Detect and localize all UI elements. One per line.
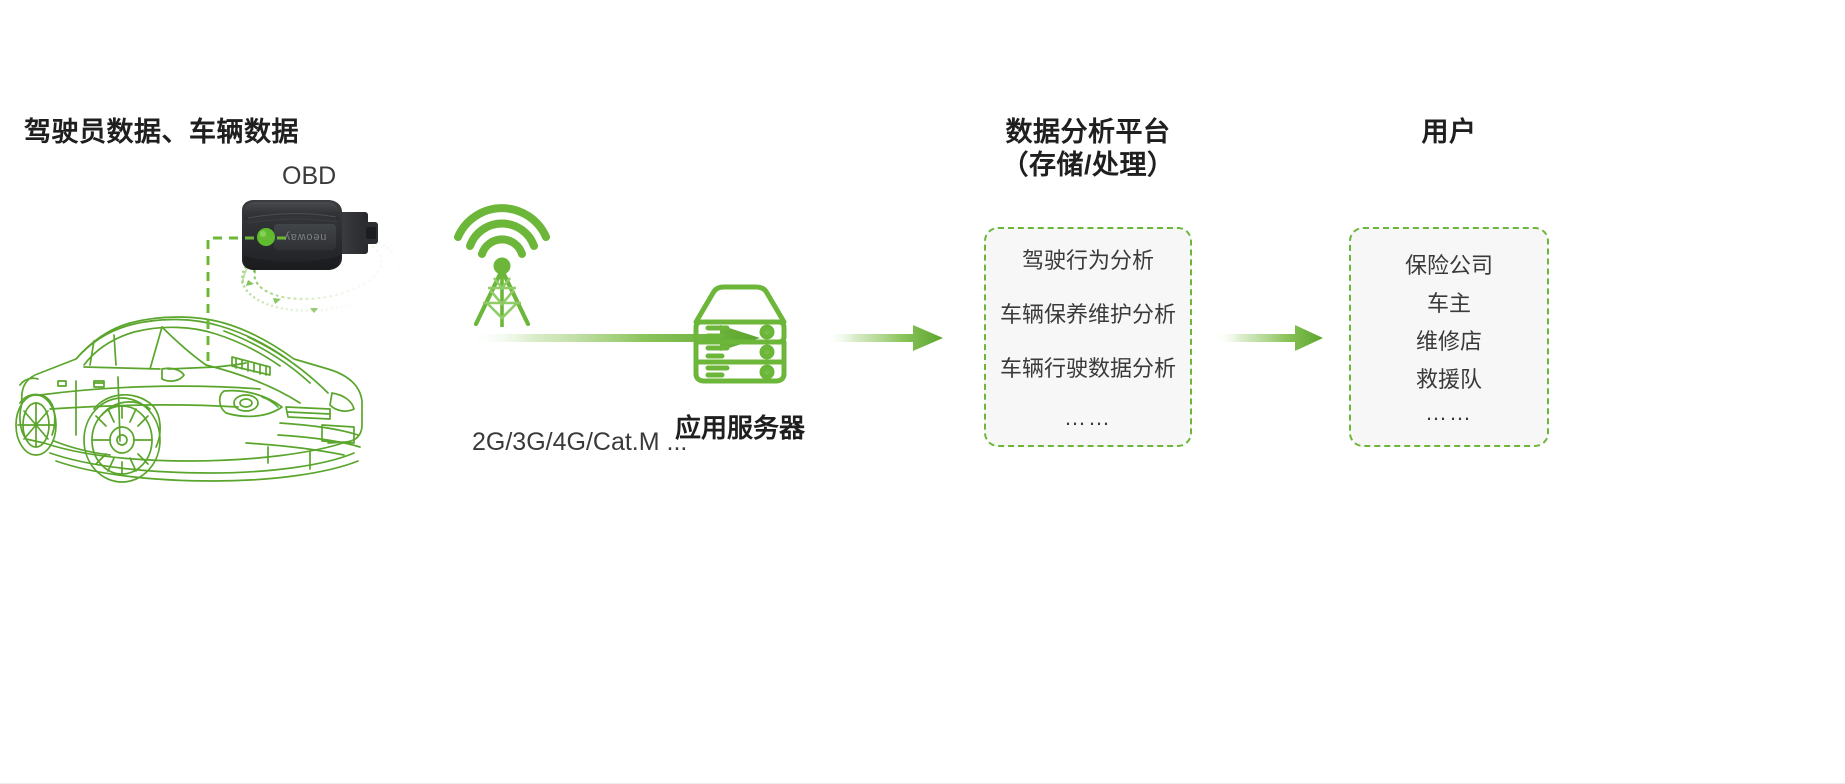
svg-text:neoway: neoway [284, 231, 327, 243]
user-item-1: 车主 [1427, 286, 1471, 318]
application-server-icon [689, 284, 791, 384]
user-item-2: 维修店 [1416, 324, 1482, 356]
server-caption: 应用服务器 [660, 408, 820, 445]
car-line-art-icon [10, 285, 370, 490]
cell-tower-icon [448, 182, 556, 327]
platform-item-0: 驾驶行为分析 [1022, 243, 1154, 275]
users-panel: 保险公司 车主 维修店 救援队 …… [1349, 227, 1549, 447]
network-link-label: 2G/3G/4G/Cat.M ... [472, 428, 687, 457]
platform-analysis-panel: 驾驶行为分析 车辆保养维护分析 车辆行驶数据分析 …… [984, 227, 1192, 447]
user-item-0: 保险公司 [1405, 248, 1493, 280]
platform-item-1: 车辆保养维护分析 [1000, 297, 1176, 329]
platform-item-3: …… [1064, 405, 1112, 431]
section-heading-platform-line1: 数据分析平台 [984, 115, 1192, 151]
gradient-arrow-right-icon-3 [1215, 325, 1323, 351]
section-heading-users: 用户 [1349, 115, 1549, 151]
diagram-canvas: 驾驶员数据、车辆数据 [0, 0, 1845, 784]
user-item-3: 救援队 [1416, 362, 1482, 394]
gradient-arrow-right-icon-2 [825, 325, 943, 351]
user-item-4: …… [1425, 400, 1473, 426]
obd-device-label: OBD [282, 162, 336, 191]
section-heading-platform-line2: （存储/处理） [984, 148, 1192, 184]
platform-item-2: 车辆行驶数据分析 [1000, 351, 1176, 383]
obd-device-icon: neoway [232, 196, 384, 278]
section-heading-vehicle-data: 驾驶员数据、车辆数据 [24, 115, 299, 151]
